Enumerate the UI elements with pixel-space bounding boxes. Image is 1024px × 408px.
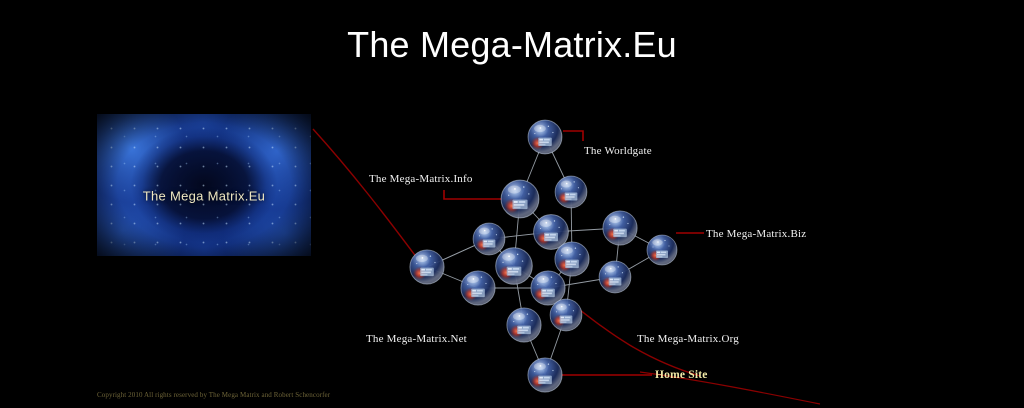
network-diagram: [0, 0, 1024, 408]
node-low-left[interactable]: [461, 271, 495, 305]
label-home-site: Home Site: [655, 369, 708, 381]
label-mega-matrix-net: The Mega-Matrix.Net: [366, 333, 467, 345]
node-core-c[interactable]: [555, 242, 589, 276]
node-homesite[interactable]: [528, 358, 562, 392]
node-info[interactable]: [501, 180, 539, 218]
node-worldgate[interactable]: [528, 120, 562, 154]
copyright-notice: Copyright 2010 All rights reserved by Th…: [97, 391, 330, 399]
node-left-far[interactable]: [410, 250, 444, 284]
label-mega-matrix-info: The Mega-Matrix.Info: [369, 173, 473, 185]
node-bottom-left[interactable]: [507, 308, 541, 342]
node-upper-right[interactable]: [555, 176, 587, 208]
label-mega-matrix-biz: The Mega-Matrix.Biz: [706, 228, 806, 240]
label-worldgate: The Worldgate: [584, 145, 652, 157]
slide-canvas: The Mega-Matrix.Eu The Mega Matrix.Eu: [0, 0, 1024, 408]
node-core-b[interactable]: [496, 248, 533, 285]
leader-worldgate: [563, 131, 583, 141]
label-mega-matrix-org: The Mega-Matrix.Org: [637, 333, 739, 345]
leader-info: [444, 190, 505, 199]
node-low-right[interactable]: [599, 261, 631, 293]
node-bottom-right[interactable]: [550, 299, 582, 331]
node-right-far[interactable]: [647, 235, 677, 265]
node-left-a[interactable]: [473, 223, 505, 255]
diagram-nodes[interactable]: [410, 120, 677, 392]
node-right-a[interactable]: [603, 211, 637, 245]
